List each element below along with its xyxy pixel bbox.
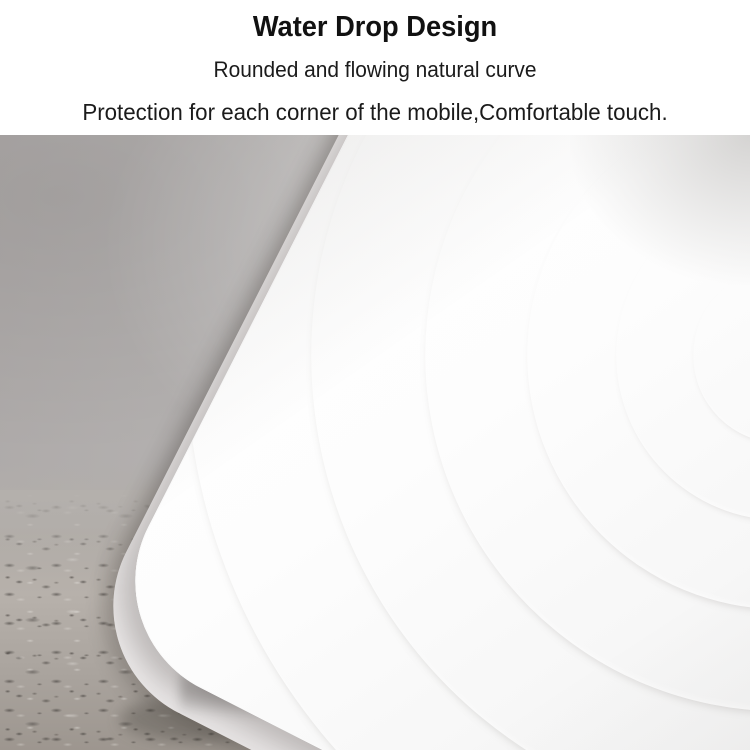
page-tagline: Protection for each corner of the mobile… (11, 97, 739, 127)
page-subtitle: Rounded and flowing natural curve (19, 56, 732, 84)
product-marketing-image: Water Drop Design Rounded and flowing na… (0, 0, 750, 750)
product-photo (0, 135, 750, 750)
page-title: Water Drop Design (23, 10, 728, 44)
header-text-band: Water Drop Design Rounded and flowing na… (0, 0, 750, 135)
